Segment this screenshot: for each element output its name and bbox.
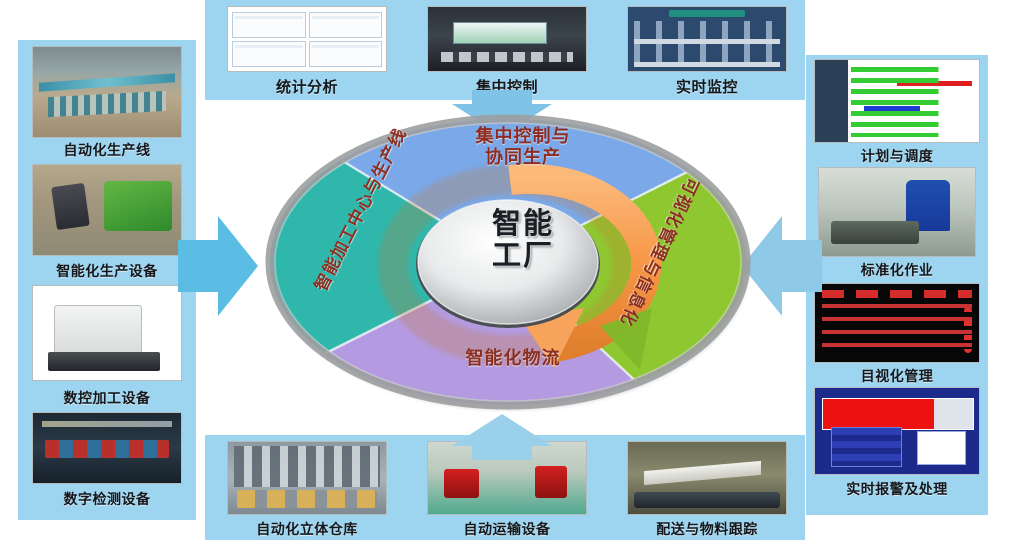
top-card-1[interactable] [427, 6, 587, 72]
right-label-0: 计划与调度 [806, 146, 988, 166]
wheel-center-line2: 工厂 [448, 240, 598, 272]
left-label-1: 智能化生产设备 [18, 261, 196, 281]
automated-warehouse-icon [227, 441, 387, 515]
bottom-label-2: 配送与物料跟踪 [627, 519, 787, 539]
bottom-label-1: 自动运输设备 [427, 519, 587, 539]
wheel-center-line1: 智能 [448, 208, 598, 240]
top-label-2: 实时监控 [627, 76, 787, 97]
alarm-handling-icon [814, 387, 980, 475]
wheel-segment-bottom-label: 智能化物流 [398, 348, 628, 369]
top-control-panel: 统计分析 集中控制 实时监控 [205, 0, 805, 100]
top-card-0[interactable] [227, 6, 387, 72]
top-label-0: 统计分析 [227, 76, 387, 97]
right-card-0[interactable] [814, 59, 980, 143]
right-label-1: 标准化作业 [806, 260, 988, 280]
statistics-dashboard-icon [227, 6, 387, 72]
bottom-card-2[interactable] [627, 441, 787, 515]
wheel-center-title: 智能 工厂 [448, 208, 598, 273]
right-management-panel: 计划与调度 标准化作业 目视化管理 实时报警及处理 [806, 55, 988, 515]
smart-factory-wheel: 集中控制与协同生产 可视化管理与信息化 智能化物流 智能加工中心与生产线 智能 … [248, 112, 768, 412]
automated-production-line-icon [32, 46, 182, 138]
control-room-icon [427, 6, 587, 72]
material-tracking-icon [627, 441, 787, 515]
top-card-2[interactable] [627, 6, 787, 72]
bottom-card-0[interactable] [227, 441, 387, 515]
right-card-1[interactable] [818, 167, 976, 257]
left-card-2[interactable] [32, 285, 182, 381]
left-card-3[interactable] [32, 412, 182, 484]
realtime-monitor-icon [627, 6, 787, 72]
arrow-left-to-center [178, 212, 258, 320]
left-label-3: 数字检测设备 [18, 489, 196, 509]
left-label-0: 自动化生产线 [18, 140, 196, 160]
arrow-bottom-to-center [448, 412, 556, 460]
wheel-segment-top-label: 集中控制与协同生产 [428, 126, 618, 167]
smart-factory-diagram: 自动化生产线 智能化生产设备 数控加工设备 数字检测设备 统计分析 集中控制 实… [0, 0, 1024, 547]
left-card-0[interactable] [32, 46, 182, 138]
digital-inspection-equipment-icon [32, 412, 182, 484]
left-card-1[interactable] [32, 164, 182, 256]
andon-board-icon [814, 283, 980, 363]
standard-work-icon [818, 167, 976, 257]
right-label-3: 实时报警及处理 [806, 479, 988, 499]
left-label-2: 数控加工设备 [18, 388, 196, 408]
bottom-label-0: 自动化立体仓库 [227, 519, 387, 539]
right-label-2: 目视化管理 [806, 366, 988, 386]
intelligent-production-equipment-icon [32, 164, 182, 256]
right-card-3[interactable] [814, 387, 980, 475]
right-card-2[interactable] [814, 283, 980, 363]
left-equipment-panel: 自动化生产线 智能化生产设备 数控加工设备 数字检测设备 [18, 40, 196, 520]
planning-gantt-icon [814, 59, 980, 143]
cnc-machining-equipment-icon [32, 285, 182, 381]
